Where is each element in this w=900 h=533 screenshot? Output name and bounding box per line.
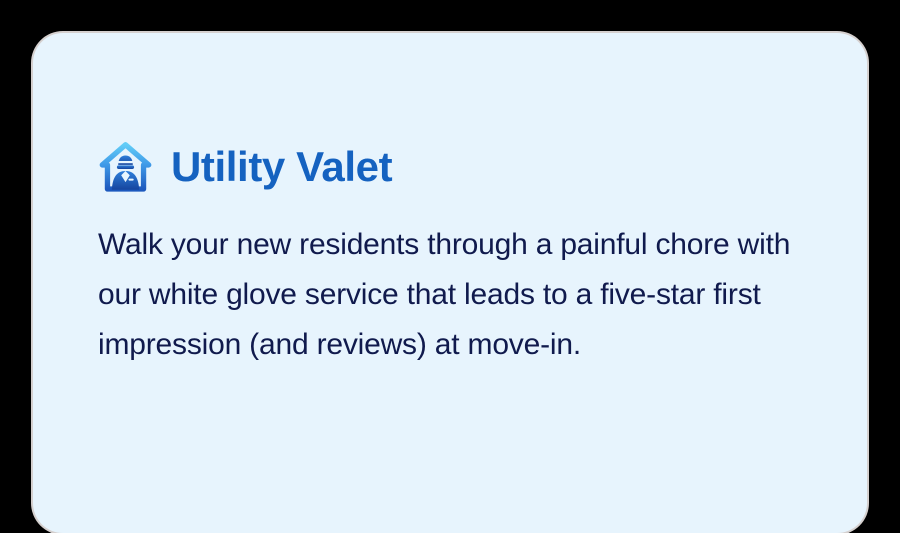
valet-house-icon — [98, 140, 153, 195]
card-heading-row: Utility Valet — [98, 138, 827, 196]
card-content: Utility Valet Walk your new residents th… — [98, 138, 827, 370]
page-title: Utility Valet — [171, 146, 392, 188]
card-description: Walk your new residents through a painfu… — [98, 196, 798, 370]
feature-card: Utility Valet Walk your new residents th… — [33, 33, 867, 533]
page-canvas: Utility Valet Walk your new residents th… — [0, 0, 900, 506]
